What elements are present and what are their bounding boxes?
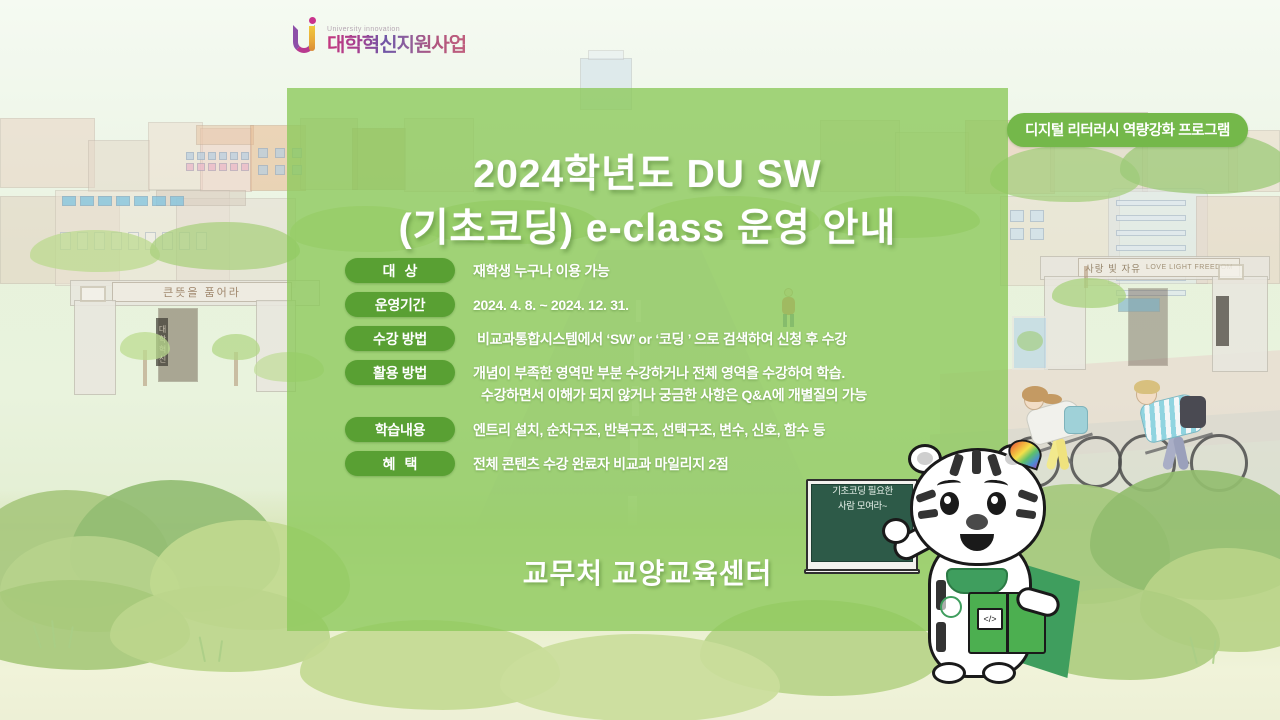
mascot-ear-inner-left — [917, 452, 933, 465]
university-innovation-logo: University innovation 대학혁신지원사업 — [293, 17, 466, 55]
hedge — [30, 230, 160, 272]
gate-emblem — [1218, 264, 1244, 280]
row-value-usage-method: 개념이 부족한 영역만 부분 수강하거나 전체 영역을 수강하여 학습. 수강하… — [455, 360, 975, 406]
gate-left-pillar — [74, 300, 116, 395]
building — [0, 118, 95, 188]
mascot-badge — [940, 596, 962, 618]
info-rows: 대상 재학생 누구나 이용 가능 운영기간 2024. 4. 8. ~ 2024… — [345, 258, 975, 485]
window-grid — [1116, 200, 1186, 296]
row-value-period: 2024. 4. 8. ~ 2024. 12. 31. — [455, 292, 975, 317]
row-label-usage-method: 활용 방법 — [345, 360, 455, 385]
row-value-line: 재학생 누구나 이용 가능 — [473, 261, 975, 283]
row-value-curriculum: 엔트리 설치, 순차구조, 반복구조, 선택구조, 변수, 신호, 함수 등 — [455, 417, 975, 442]
notice-board — [1012, 316, 1048, 370]
backpack — [1180, 396, 1206, 428]
building-tower-cap — [588, 50, 624, 60]
backpack — [1064, 406, 1088, 434]
gate-emblem — [80, 286, 106, 302]
tree-canopy — [1052, 278, 1126, 308]
logo-english-text: University innovation — [327, 26, 466, 33]
row-value-enrollment-method: 비교과통합시스템에서 ‘SW’ or ‘코딩 ’ 으로 검색하여 신청 후 수강 — [455, 326, 975, 351]
info-row-benefit: 혜택 전체 콘텐츠 수강 완료자 비교과 마일리지 2점 — [345, 451, 975, 476]
window-grid — [62, 196, 184, 206]
tree-canopy — [212, 334, 260, 360]
computer-icon: </> — [977, 608, 1003, 630]
title-line-1: 2024학년도 DU SW — [287, 148, 1008, 202]
title-line-2: (기초코딩) e-class 운영 안내 — [287, 202, 1008, 256]
info-row-usage-method: 활용 방법 개념이 부족한 영역만 부분 수강하거나 전체 영역을 수강하여 학… — [345, 360, 975, 406]
gate-right-panel — [1118, 298, 1160, 312]
info-row-enrollment-method: 수강 방법 비교과통합시스템에서 ‘SW’ or ‘코딩 ’ 으로 검색하여 신… — [345, 326, 975, 351]
gate-banner — [1216, 296, 1229, 346]
poster-canvas: 큰뜻을 품어라 대학혁신 사랑 빛 자유 LOVE LIGHT FREEDOM — [0, 0, 1280, 720]
gate-left-sign: 큰뜻을 품어라 — [112, 282, 292, 302]
white-tiger-mascot: </> — [890, 440, 1120, 700]
window-grid — [186, 152, 249, 171]
mascot-foot-right — [982, 662, 1016, 684]
mascot-foot-left — [932, 662, 966, 684]
logo-j-stroke-icon — [309, 26, 315, 51]
hedge — [150, 222, 300, 270]
row-value-line: 엔트리 설치, 순차구조, 반복구조, 선택구조, 변수, 신호, 함수 등 — [473, 420, 975, 442]
mascot-eye-right — [987, 492, 1006, 515]
ui-logo-mark-icon — [293, 17, 323, 55]
mascot-paw-pointing — [882, 518, 910, 544]
tree-canopy — [120, 332, 170, 360]
poster-title: 2024학년도 DU SW (기초코딩) e-class 운영 안내 — [287, 148, 1008, 256]
building-roof — [196, 125, 254, 145]
info-row-curriculum: 학습내용 엔트리 설치, 순차구조, 반복구조, 선택구조, 변수, 신호, 함… — [345, 417, 975, 442]
mascot-eye-left — [940, 492, 959, 515]
gate-right-sign-kr: 사랑 빛 자유 — [1085, 261, 1141, 275]
logo-text: University innovation 대학혁신지원사업 — [327, 26, 466, 55]
gate-right-sign: 사랑 빛 자유 LOVE LIGHT FREEDOM — [1078, 258, 1240, 277]
window-grid — [1010, 210, 1044, 240]
row-value-line: 개념이 부족한 영역만 부분 수강하거나 전체 영역을 수강하여 학습. — [473, 363, 975, 385]
mascot-nose — [966, 514, 988, 530]
row-value-line: 수강하면서 이해가 되지 않거나 궁금한 사항은 Q&A에 개별질의 가능 — [473, 385, 975, 407]
row-value-target: 재학생 누구나 이용 가능 — [455, 258, 975, 283]
rider-hair — [1134, 380, 1160, 394]
mascot-stripe — [936, 622, 946, 652]
logo-dot-icon — [309, 17, 316, 24]
row-label-benefit: 혜택 — [345, 451, 455, 476]
mascot-scarf — [946, 568, 1008, 594]
rider-ponytail — [1042, 394, 1062, 404]
row-value-line: 2024. 4. 8. ~ 2024. 12. 31. — [473, 295, 975, 317]
logo-korean-text: 대학혁신지원사업 — [327, 35, 466, 55]
program-category-badge: 디지털 리터러시 역량강화 프로그램 — [1007, 113, 1248, 147]
row-label-target: 대상 — [345, 258, 455, 283]
row-label-curriculum: 학습내용 — [345, 417, 455, 442]
building — [88, 140, 150, 192]
mascot-head-stripe — [972, 450, 981, 474]
row-value-line: 비교과통합시스템에서 ‘SW’ or ‘코딩 ’ 으로 검색하여 신청 후 수강 — [477, 329, 975, 351]
info-row-target: 대상 재학생 누구나 이용 가능 — [345, 258, 975, 283]
info-row-period: 운영기간 2024. 4. 8. ~ 2024. 12. 31. — [345, 292, 975, 317]
row-label-enrollment-method: 수강 방법 — [345, 326, 455, 351]
row-label-period: 운영기간 — [345, 292, 455, 317]
